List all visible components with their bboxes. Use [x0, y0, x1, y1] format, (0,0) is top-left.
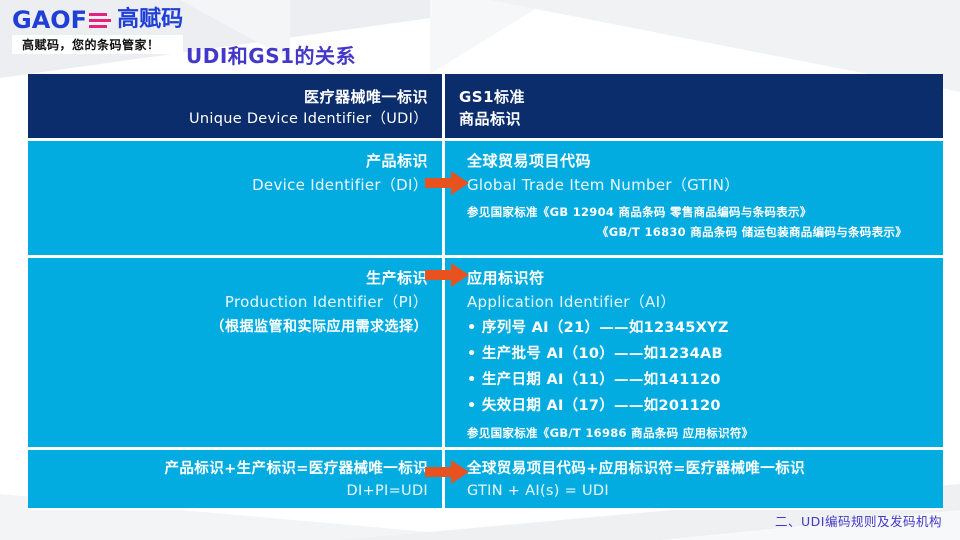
header-gs1-line2: 商品标识: [459, 108, 929, 130]
summary-right-en: GTIN + AI(s) = UDI: [467, 480, 929, 502]
di-cn: 产品标识: [42, 150, 428, 173]
table-row: 产品标识+生产标识=医疗器械唯一标识 DI+PI=UDI 全球贸易项目代码+应用…: [28, 450, 943, 508]
table-row: 生产标识 Production Identifier（PI） （根据监管和实际应…: [28, 258, 943, 447]
gtin-reference-1: 参见国家标准《GB 12904 商品条码 零售商品编码与条码表示》: [467, 202, 929, 222]
table-header-row: 医疗器械唯一标识 Unique Device Identifier（UDI） G…: [28, 74, 943, 138]
gtin-reference-2: 《GB/T 16830 商品条码 储运包装商品编码与条码表示》: [467, 222, 929, 242]
ai-en: Application Identifier（AI）: [467, 290, 929, 315]
cell-summary-udi: 产品标识+生产标识=医疗器械唯一标识 DI+PI=UDI: [28, 450, 442, 508]
cell-production-identifier: 生产标识 Production Identifier（PI） （根据监管和实际应…: [28, 258, 442, 447]
cell-gtin: 全球贸易项目代码 Global Trade Item Number（GTIN） …: [445, 141, 943, 255]
logo-wordmark-cn: 高赋码: [117, 8, 183, 32]
pi-en: Production Identifier（PI）: [42, 290, 428, 315]
summary-left-cn: 产品标识+生产标识=医疗器械唯一标识: [42, 458, 428, 480]
brand-logo: GAOF 高赋码 高赋码，您的条码管家！: [12, 6, 183, 54]
ai-reference-1: 参见国家标准《GB/T 16986 商品条码 应用标识符》: [467, 423, 929, 443]
slide-footer-section: 二、UDI编码规则及发码机构: [775, 511, 942, 530]
header-udi-cn: 医疗器械唯一标识: [42, 86, 428, 108]
ai-cn: 应用标识符: [467, 267, 929, 290]
page-title: UDI和GS1的关系: [186, 40, 356, 69]
pi-note: （根据监管和实际应用需求选择）: [42, 315, 428, 340]
header-udi-en: Unique Device Identifier（UDI）: [42, 108, 428, 130]
header-gs1-line1: GS1标准: [459, 86, 929, 108]
gtin-cn: 全球贸易项目代码: [467, 150, 929, 173]
list-item: • 失效日期 AI（17）——如201120: [467, 393, 929, 419]
logo-bars-icon: [89, 13, 111, 28]
cell-application-identifier: 应用标识符 Application Identifier（AI） • 序列号 A…: [445, 258, 943, 447]
summary-left-en: DI+PI=UDI: [42, 480, 428, 502]
pi-cn: 生产标识: [42, 267, 428, 290]
header-cell-udi: 医疗器械唯一标识 Unique Device Identifier（UDI）: [28, 74, 442, 138]
table-row: 产品标识 Device Identifier（DI） 全球贸易项目代码 Glob…: [28, 141, 943, 255]
list-item: • 生产批号 AI（10）——如1234AB: [467, 341, 929, 367]
list-item: • 序列号 AI（21）——如12345XYZ: [467, 315, 929, 341]
gtin-en: Global Trade Item Number（GTIN）: [467, 173, 929, 198]
brand-tagline: 高赋码，您的条码管家！: [12, 35, 183, 54]
udi-gs1-comparison-table: 医疗器械唯一标识 Unique Device Identifier（UDI） G…: [28, 74, 943, 510]
cell-summary-gs1: 全球贸易项目代码+应用标识符=医疗器械唯一标识 GTIN + AI(s) = U…: [445, 450, 943, 508]
cell-device-identifier: 产品标识 Device Identifier（DI）: [28, 141, 442, 255]
list-item: • 生产日期 AI（11）——如141120: [467, 367, 929, 393]
logo-lockup: GAOF 高赋码: [12, 6, 183, 34]
summary-right-cn: 全球贸易项目代码+应用标识符=医疗器械唯一标识: [467, 458, 929, 480]
logo-wordmark-latin: GAOF: [12, 8, 87, 32]
header-cell-gs1: GS1标准 商品标识: [445, 74, 943, 138]
di-en: Device Identifier（DI）: [42, 173, 428, 198]
